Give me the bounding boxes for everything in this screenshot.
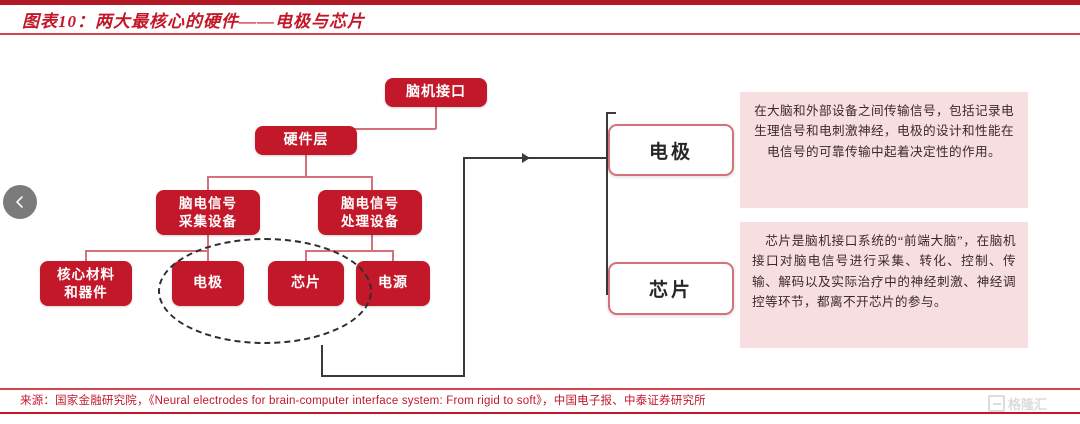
connector-proc-down bbox=[371, 235, 373, 251]
node-core-materials[interactable]: 核心材料 和器件 bbox=[40, 261, 132, 306]
callout-electrode-label: 电极 bbox=[649, 137, 693, 164]
connector-acq-children bbox=[85, 250, 209, 252]
black-connector-to-trunk bbox=[463, 157, 608, 159]
watermark-logo-icon bbox=[988, 395, 1005, 412]
connector-proc-up bbox=[371, 176, 373, 190]
panel-electrode-description: 在大脑和外部设备之间传输信号，包括记录电生理信号和电刺激神经，电极的设计和性能在… bbox=[740, 92, 1028, 208]
node-core-materials-line1: 核心材料 bbox=[57, 266, 115, 283]
node-eeg-processing-line2: 处理设备 bbox=[341, 213, 399, 230]
diagram-canvas: 脑机接口 硬件层 脑电信号 采集设备 脑电信号 处理设备 核心材料 和器件 电极… bbox=[0, 38, 1080, 386]
node-bci[interactable]: 脑机接口 bbox=[385, 78, 487, 107]
page-title: 图表10：两大最核心的硬件——电极与芯片 bbox=[22, 7, 365, 32]
panel-chip-description: 芯片是脑机接口系统的“前端大脑”，在脑机接口对脑电信号进行采集、转化、控制、传输… bbox=[740, 222, 1028, 348]
node-hardware-layer[interactable]: 硬件层 bbox=[255, 126, 357, 155]
black-connector-riser bbox=[463, 157, 465, 377]
node-eeg-processing-line1: 脑电信号 bbox=[341, 195, 399, 212]
footer-bottom-rule bbox=[0, 412, 1080, 414]
connector-acq-up bbox=[207, 176, 209, 190]
black-connector-branch-electrode bbox=[606, 112, 616, 114]
node-eeg-acquisition-device[interactable]: 脑电信号 采集设备 bbox=[156, 190, 260, 235]
node-power-supply-label: 电源 bbox=[378, 275, 408, 293]
connector-core-material-up bbox=[85, 250, 87, 261]
callout-chip[interactable]: 芯片 bbox=[608, 262, 734, 315]
node-eeg-processing-device[interactable]: 脑电信号 处理设备 bbox=[318, 190, 422, 235]
panel-chip-text: 芯片是脑机接口系统的“前端大脑”，在脑机接口对脑电信号进行采集、转化、控制、传输… bbox=[752, 231, 1016, 313]
black-connector-arrowhead bbox=[522, 153, 530, 163]
black-connector-stub-down bbox=[321, 345, 323, 377]
connector-devices-split bbox=[207, 176, 372, 178]
watermark: 格隆汇 bbox=[988, 390, 1074, 416]
callout-chip-label: 芯片 bbox=[649, 275, 693, 302]
panel-electrode-text: 在大脑和外部设备之间传输信号，包括记录电生理信号和电刺激神经，电极的设计和性能在… bbox=[752, 101, 1016, 162]
header-bottom-rule bbox=[0, 33, 1080, 35]
connector-hardware-down bbox=[305, 155, 307, 177]
connector-bci-down bbox=[435, 107, 437, 129]
node-core-materials-line2: 和器件 bbox=[64, 284, 108, 301]
dashed-highlight-ellipse bbox=[158, 238, 372, 344]
callout-electrode[interactable]: 电极 bbox=[608, 124, 734, 176]
node-hardware-layer-label: 硬件层 bbox=[284, 132, 329, 150]
connector-power-up bbox=[392, 250, 394, 261]
node-bci-label: 脑机接口 bbox=[406, 84, 466, 102]
figure-container: 图表10：两大最核心的硬件——电极与芯片 bbox=[0, 0, 1080, 424]
black-connector-bottom bbox=[321, 375, 465, 377]
source-note: 来源：国家金融研究院，《Neural electrodes for brain-… bbox=[20, 392, 706, 408]
node-eeg-acquisition-line2: 采集设备 bbox=[179, 213, 237, 230]
watermark-label: 格隆汇 bbox=[1008, 394, 1047, 413]
footer-top-rule bbox=[0, 388, 1080, 390]
figure-title-bar: 图表10：两大最核心的硬件——电极与芯片 bbox=[0, 5, 1080, 32]
node-eeg-acquisition-line1: 脑电信号 bbox=[179, 195, 237, 212]
